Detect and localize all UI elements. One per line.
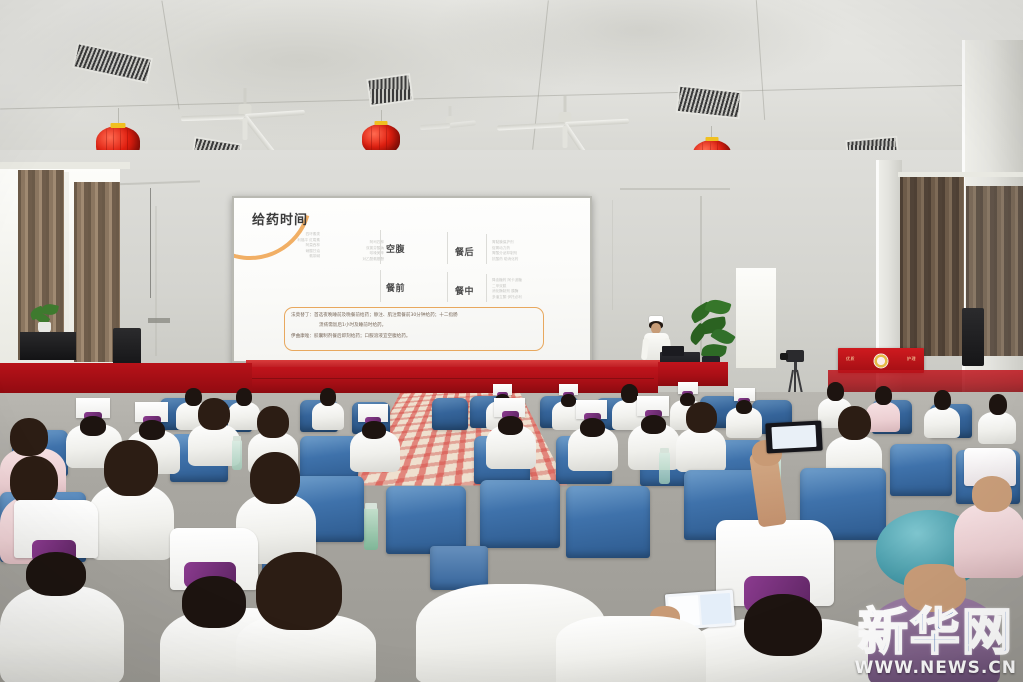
ceiling-fan bbox=[425, 106, 475, 132]
bottle-cap bbox=[660, 448, 669, 453]
person-torso bbox=[954, 504, 1023, 578]
photo-scene: 给药时间 四环素类 利福平 红霉素 阿莫西林 硝酸甘油 氨茶碱 阿司匹林 双氯芬… bbox=[0, 0, 1023, 682]
audience-member bbox=[726, 388, 762, 436]
person-head bbox=[641, 415, 666, 434]
wall-mark bbox=[620, 188, 730, 190]
fan-blade bbox=[420, 123, 450, 130]
slide-divider bbox=[447, 232, 448, 264]
slide-divider bbox=[447, 272, 448, 302]
water-bottle bbox=[364, 508, 378, 550]
person-head bbox=[10, 456, 58, 506]
audience-member bbox=[826, 406, 882, 476]
fan-blade bbox=[565, 119, 629, 127]
fan-blade bbox=[181, 114, 245, 121]
audience-member bbox=[924, 388, 960, 436]
slide-column-text: 阿司匹林 双氯芬酸钠 吲哚美辛 对乙酰氨基酚 bbox=[322, 240, 384, 262]
banner-text-right: 护理 bbox=[907, 356, 916, 362]
stage-front-panel bbox=[0, 363, 252, 393]
audience-member bbox=[0, 500, 124, 682]
audience-member bbox=[628, 396, 680, 464]
person-head bbox=[736, 400, 752, 414]
curtain-rail bbox=[0, 162, 130, 169]
curtain-rail bbox=[898, 172, 1023, 177]
person-head bbox=[744, 594, 822, 656]
audience-member bbox=[676, 402, 726, 466]
video-camera bbox=[786, 350, 804, 362]
person-head bbox=[686, 402, 717, 433]
slide-note-line: 伊曲康唑：胶囊制剂餐后即刻给药；口服溶液宜空腹给药。 bbox=[291, 334, 410, 341]
person-head bbox=[972, 476, 1012, 512]
presentation-slide: 给药时间 四环素类 利福平 红霉素 阿莫西林 硝酸甘油 氨茶碱 阿司匹林 双氯芬… bbox=[234, 198, 590, 361]
phone-screen bbox=[771, 425, 816, 449]
bottle-cap bbox=[365, 503, 377, 509]
audience-member bbox=[978, 392, 1016, 442]
lantern-cap bbox=[111, 123, 126, 128]
auditorium-seat bbox=[890, 444, 952, 496]
wall-seam bbox=[700, 196, 702, 366]
speaker bbox=[113, 328, 141, 366]
person-head bbox=[875, 386, 892, 405]
audience-member bbox=[350, 404, 400, 468]
audience-member bbox=[312, 386, 344, 428]
person-head bbox=[320, 388, 336, 406]
wall-cable bbox=[150, 188, 151, 298]
slide-key-during-meal: 餐中 bbox=[455, 284, 474, 297]
fan-blade bbox=[245, 110, 305, 119]
fan-blade bbox=[497, 122, 565, 131]
slide-key-after-meal: 餐后 bbox=[455, 245, 474, 258]
person-head bbox=[838, 406, 871, 440]
slide-divider bbox=[380, 270, 381, 302]
slide-divider bbox=[380, 230, 381, 264]
person-head bbox=[498, 416, 523, 435]
wall-seam bbox=[155, 206, 157, 356]
audience-member bbox=[556, 596, 706, 682]
slide-column-text: 降血糖药 阿卡波糖 二甲双胍 消化酶制剂 胰酶 多潘立酮 伊托必利 bbox=[492, 278, 580, 300]
person-head bbox=[257, 406, 289, 438]
fan-stem bbox=[243, 118, 248, 140]
slide-note-box: 法莫替丁：首选夜晚睡前及晚餐前给药；静注、肌注需餐前30分钟给药；十二指肠 溃疡… bbox=[284, 307, 544, 351]
stage-front-panel bbox=[248, 367, 658, 393]
slide-key-before-meal: 餐前 bbox=[386, 281, 405, 294]
person-head bbox=[10, 418, 48, 456]
person-head bbox=[362, 421, 386, 439]
slide-title: 给药时间 bbox=[252, 209, 308, 228]
person-torso bbox=[676, 428, 726, 472]
person-head bbox=[198, 398, 230, 430]
doorway-light bbox=[736, 268, 776, 368]
slide-column-text: 四环素类 利福平 红霉素 阿莫西林 硝酸甘油 氨茶碱 bbox=[256, 232, 320, 260]
slide-note-line: 法莫替丁：首选夜晚睡前及晚餐前给药；静注、肌注需餐前30分钟给药；十二指肠 bbox=[291, 313, 458, 320]
person-torso bbox=[312, 402, 344, 430]
slide-key-empty-stomach: 空腹 bbox=[386, 242, 405, 255]
auditorium-seat bbox=[480, 480, 560, 548]
wall-switchbox bbox=[148, 318, 170, 323]
auditorium-seat bbox=[432, 398, 468, 430]
ceiling-fan bbox=[185, 88, 305, 128]
person-head bbox=[104, 440, 158, 496]
stage-seam bbox=[250, 378, 654, 379]
presentation-laptop bbox=[662, 346, 684, 356]
slide-column-text: 胃黏膜保护剂 促胃动力药 胃酸分泌抑制剂 抗酸药 助消化药 bbox=[492, 240, 564, 262]
wall-seam bbox=[612, 200, 613, 310]
speaker bbox=[962, 308, 984, 366]
audience-member bbox=[954, 448, 1023, 574]
person-head bbox=[989, 394, 1007, 415]
banner-emblem bbox=[874, 353, 889, 368]
fan-stem bbox=[563, 126, 568, 148]
slide-note-line: 溃疡需饭后1小时及睡前时给药。 bbox=[319, 323, 386, 330]
person-torso bbox=[924, 407, 960, 438]
bottle-cap bbox=[233, 436, 241, 441]
ceiling-fan bbox=[500, 96, 630, 136]
person-head bbox=[26, 552, 86, 596]
person-torso bbox=[978, 412, 1016, 444]
auditorium-seat bbox=[386, 486, 466, 554]
slide-divider bbox=[486, 274, 487, 302]
audience-member bbox=[486, 398, 536, 464]
lantern-cap bbox=[706, 137, 719, 141]
tripod-head bbox=[794, 362, 797, 372]
person-head bbox=[256, 552, 342, 630]
person-torso bbox=[556, 616, 706, 682]
person-head bbox=[139, 420, 165, 440]
slide-divider bbox=[486, 234, 487, 264]
person-head bbox=[934, 390, 951, 410]
smartphone-camera[interactable] bbox=[765, 421, 822, 454]
person-head bbox=[580, 418, 605, 437]
camera-lens bbox=[780, 353, 788, 360]
person-head bbox=[250, 452, 300, 504]
window-curtain bbox=[900, 176, 964, 356]
person-head bbox=[827, 382, 844, 401]
auditorium-seat bbox=[566, 486, 650, 558]
person-torso bbox=[0, 586, 124, 682]
side-cabinet bbox=[20, 332, 76, 360]
audience-member bbox=[568, 400, 618, 466]
lantern-cap bbox=[375, 121, 388, 125]
water-bottle bbox=[659, 452, 670, 484]
person-head bbox=[80, 416, 106, 436]
audience-member bbox=[236, 552, 376, 682]
banner-text-left: 优质 bbox=[846, 356, 855, 362]
